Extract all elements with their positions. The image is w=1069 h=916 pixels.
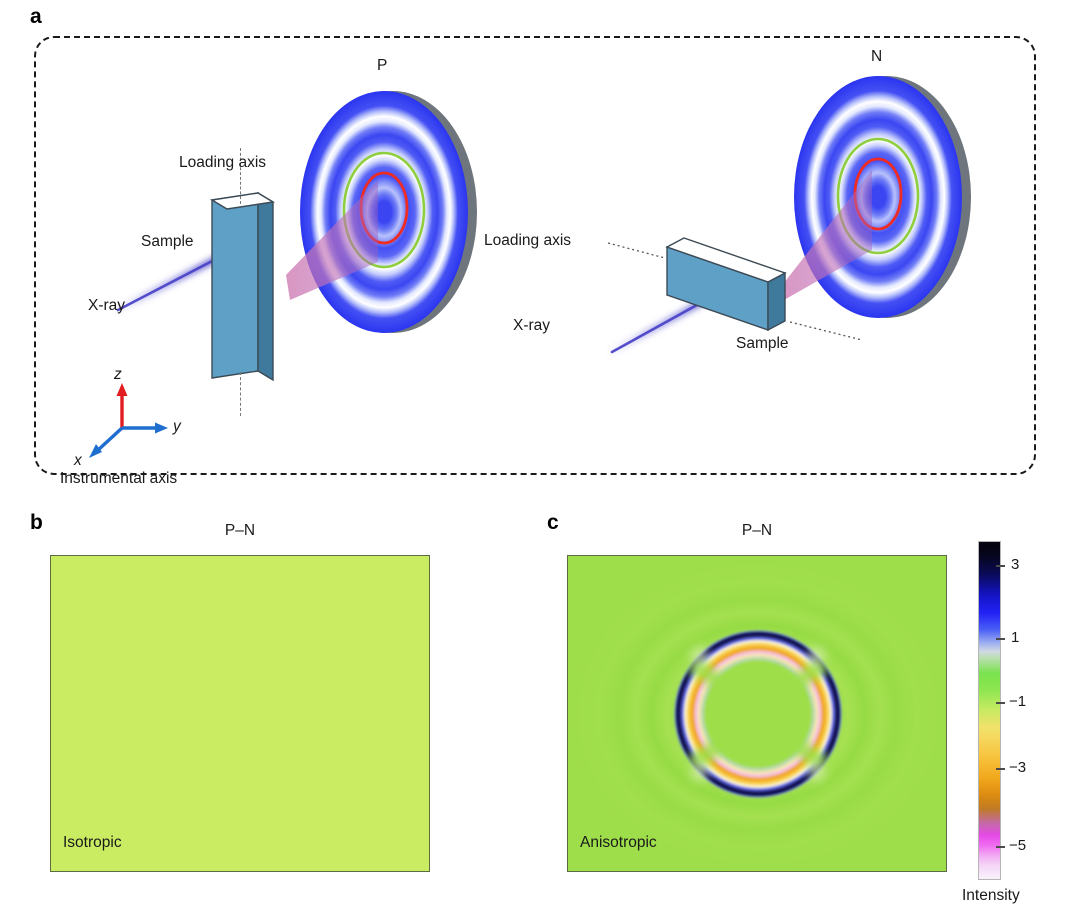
cbar-tick-neg3 [996,768,1005,770]
leader-sample-n [790,322,862,340]
panel-c-tag: Anisotropic [580,834,657,852]
xray-label-n: X-ray [513,317,550,335]
cbar-label-neg5: −5 [1009,837,1026,854]
cbar-label-neg1: −1 [1009,693,1026,710]
xray-label-p: X-ray [88,297,125,315]
cbar-tick-neg5 [996,846,1005,848]
cbar-label-3: 3 [1011,556,1019,573]
panel-b-map [50,555,430,872]
axis-y-arrow [155,423,168,434]
figure-root: a b c [0,0,1069,916]
cbar-label-neg3: −3 [1009,759,1026,776]
axis-label-y: y [173,418,181,436]
cbar-tick-neg1 [996,702,1005,704]
axis-z-arrow [117,383,128,396]
axes-triad [89,383,168,458]
panel-c-map [567,555,947,872]
axis-label-z: z [114,366,122,384]
cbar-label-1: 1 [1011,629,1019,646]
sample-label-p: Sample [141,233,194,251]
intensity-colorbar [978,541,1001,880]
sample-slab-n [667,238,785,330]
axis-label-x: x [74,452,82,470]
colorbar-title: Intensity [962,887,1020,905]
cbar-tick-3 [996,565,1005,567]
leader-loading-axis-n [608,243,665,258]
panel-c-background [568,556,946,871]
detector-n-face [794,76,962,318]
detector-p-face [300,91,468,333]
axis-x-line [97,428,122,451]
detector-label-n: N [871,48,882,66]
detector-label-p: P [377,57,387,75]
panel-b-tag: Isotropic [63,834,122,852]
loading-axis-label-p: Loading axis [179,154,266,172]
sample-slab-p [212,193,273,380]
panel-b-title: P–N [50,522,430,540]
panel-c-title: P–N [567,522,947,540]
sample-label-n: Sample [736,335,789,353]
cbar-tick-1 [996,638,1005,640]
instrumental-axis-caption: Instrumental axis [60,470,177,488]
loading-axis-label-n: Loading axis [484,232,571,250]
loading-axis-line-p-lower [240,372,241,416]
panel-c-pattern [568,556,946,871]
